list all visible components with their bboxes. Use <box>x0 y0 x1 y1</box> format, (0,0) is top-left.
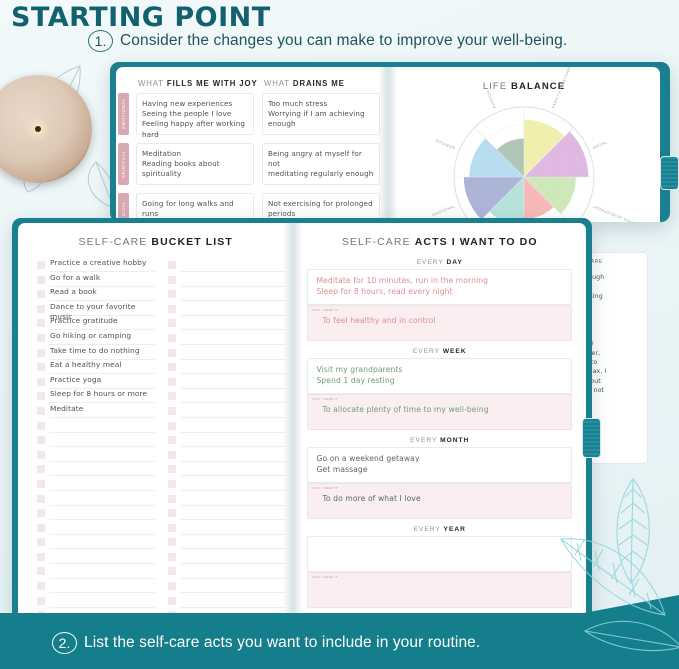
rule-line <box>49 461 155 462</box>
drains-column-header: WHAT DRAINS ME <box>264 79 345 88</box>
why-text: To allocate plenty of time to my well-be… <box>308 401 571 416</box>
rule-line <box>180 592 286 593</box>
checkbox[interactable] <box>168 276 176 284</box>
bucket-list-row[interactable] <box>37 565 155 580</box>
acts-section-month: EVERY MONTHGo on a weekend getawayGet ma… <box>307 437 572 519</box>
rule-line <box>180 329 286 330</box>
step-2: 2. List the self-care acts you want to i… <box>52 632 480 654</box>
journal-top-spread: WHAT FILLS ME WITH JOY WHAT DRAINS ME EM… <box>110 62 670 222</box>
bucket-list-text: Go hiking or camping <box>50 331 131 342</box>
checkbox[interactable] <box>37 553 45 561</box>
rule-line <box>49 607 155 608</box>
act-line: Visit my grandparents <box>316 365 563 376</box>
bucket-list-row[interactable] <box>37 507 155 522</box>
act-line: Get massage <box>316 465 563 476</box>
why-text: To do more of what I love <box>308 490 571 505</box>
checkbox[interactable] <box>168 597 176 605</box>
bucket-list-row[interactable]: Sleep for 8 hours or more <box>37 390 155 405</box>
checkbox[interactable] <box>37 495 45 503</box>
section-header: EVERY DAY <box>307 259 572 266</box>
bucket-list-text: Read a book <box>50 287 97 298</box>
bucket-list-row[interactable] <box>37 493 155 508</box>
checkbox[interactable] <box>37 436 45 444</box>
bucket-list-row[interactable] <box>168 580 286 595</box>
bucket-list-row[interactable] <box>168 303 286 318</box>
bucket-list-row[interactable] <box>168 493 286 508</box>
acts-input-box[interactable]: Visit my grandparentsSpend 1 day resting <box>307 358 572 394</box>
entry-box-joy-emotional[interactable]: Having new experiencesSeeing the people … <box>136 93 254 135</box>
checkbox[interactable] <box>168 582 176 590</box>
bucket-list-row[interactable] <box>168 507 286 522</box>
rule-line <box>180 315 286 316</box>
rule-line <box>180 300 286 301</box>
acts-input-box[interactable] <box>307 536 572 572</box>
checkbox[interactable] <box>168 392 176 400</box>
rule-line <box>49 578 155 579</box>
checkbox[interactable] <box>37 597 45 605</box>
rule-line <box>49 548 155 549</box>
bucket-list-row[interactable] <box>168 274 286 289</box>
bucket-list-column-1: Practice a creative hobby Go for a walk … <box>37 259 155 624</box>
top-left-page: WHAT FILLS ME WITH JOY WHAT DRAINS ME EM… <box>116 67 388 222</box>
checkbox[interactable] <box>37 451 45 459</box>
rule-line <box>180 563 286 564</box>
bucket-list-row[interactable] <box>168 434 286 449</box>
journal-pages-top: WHAT FILLS ME WITH JOY WHAT DRAINS ME EM… <box>116 67 660 222</box>
leaf-decoration-bottom-right <box>559 439 679 669</box>
bucket-list-row[interactable]: Meditate <box>37 405 155 420</box>
bucket-list-row[interactable] <box>37 580 155 595</box>
act-line: Spend 1 day resting <box>316 376 563 387</box>
bucket-list-row[interactable] <box>37 434 155 449</box>
rule-line <box>49 592 155 593</box>
why-i-need-it-box[interactable]: WHY I NEED IT To feel healthy and in con… <box>307 305 572 341</box>
bucket-list-row[interactable] <box>168 536 286 551</box>
step-1: 1. Consider the changes you can make to … <box>88 30 567 52</box>
handwritten-text: MeditationReading books about spirituali… <box>137 144 253 180</box>
bucket-list-row[interactable] <box>168 390 286 405</box>
bucket-list-title: SELF-CARE BUCKET LIST <box>18 236 293 248</box>
rule-line <box>180 519 286 520</box>
section-header: EVERY MONTH <box>307 437 572 444</box>
rule-line <box>180 607 286 608</box>
bucket-list-column-2 <box>168 259 286 624</box>
bucket-list-row[interactable]: Go for a walk <box>37 274 155 289</box>
entry-box-drains-spiritual[interactable]: Being angry at myself for notmeditating … <box>262 143 380 185</box>
checkbox[interactable] <box>168 538 176 546</box>
rule-line <box>49 519 155 520</box>
bucket-list-row[interactable] <box>37 536 155 551</box>
checkbox[interactable] <box>37 392 45 400</box>
bucket-list-row[interactable] <box>168 463 286 478</box>
checkbox[interactable] <box>168 407 176 415</box>
bucket-list-row[interactable] <box>37 551 155 566</box>
bucket-list-text: Meditate <box>50 404 83 415</box>
checkbox[interactable] <box>168 305 176 313</box>
checkbox[interactable] <box>37 524 45 532</box>
bucket-list-row[interactable] <box>168 405 286 420</box>
bucket-list-row[interactable] <box>168 361 286 376</box>
rule-line <box>180 271 286 272</box>
rule-line <box>180 461 286 462</box>
checkbox[interactable] <box>37 261 45 269</box>
checkbox[interactable] <box>168 422 176 430</box>
rule-line <box>49 432 155 433</box>
why-i-need-it-box[interactable]: WHY I NEED IT <box>307 572 572 608</box>
act-line: Sleep for 8 hours, read every night <box>316 287 563 298</box>
bucket-list-row[interactable]: Dance to your favorite music <box>37 303 155 318</box>
handwritten-text: Not exercising for prolonged periods <box>263 194 379 219</box>
rule-line <box>180 446 286 447</box>
step-2-text: List the self-care acts you want to incl… <box>84 634 480 652</box>
rule-line <box>49 475 155 476</box>
bucket-list-text: Sleep for 8 hours or more <box>50 389 147 400</box>
top-right-page: LIFE BALANCE FAMILY & RELATIONSHIPSSOCIA… <box>388 67 660 222</box>
checkbox[interactable] <box>168 567 176 575</box>
bucket-list-text: Practice gratitude <box>50 316 118 327</box>
rule-line <box>180 432 286 433</box>
act-line: Go on a weekend getaway <box>316 454 563 465</box>
checkbox[interactable] <box>37 334 45 342</box>
bucket-list-row[interactable] <box>168 332 286 347</box>
section-header: EVERY YEAR <box>307 526 572 533</box>
bucket-list-row[interactable] <box>168 565 286 580</box>
joy-column-header: WHAT FILLS ME WITH JOY <box>138 79 258 88</box>
acts-section-year: EVERY YEARWHY I NEED IT <box>307 526 572 608</box>
checkbox[interactable] <box>168 451 176 459</box>
bucket-list-row[interactable] <box>168 420 286 435</box>
entry-box-drains-emotional[interactable]: Too much stressWorrying if I am achievin… <box>262 93 380 135</box>
bucket-list-row[interactable]: Practice a creative hobby <box>37 259 155 274</box>
step-1-text: Consider the changes you can make to imp… <box>120 32 567 50</box>
checkbox[interactable] <box>168 524 176 532</box>
checkbox[interactable] <box>37 422 45 430</box>
rule-line <box>49 534 155 535</box>
checkbox[interactable] <box>168 480 176 488</box>
checkbox[interactable] <box>168 319 176 327</box>
checkbox[interactable] <box>168 465 176 473</box>
rule-line <box>180 578 286 579</box>
bucket-list-row[interactable]: Practice gratitude <box>37 317 155 332</box>
step-1-number: 1. <box>88 30 113 52</box>
bucket-list-row[interactable] <box>168 478 286 493</box>
checkbox[interactable] <box>168 290 176 298</box>
rule-line <box>180 359 286 360</box>
acts-input-box[interactable]: Go on a weekend getawayGet massage <box>307 447 572 483</box>
checkbox[interactable] <box>37 305 45 313</box>
step-2-number: 2. <box>52 632 77 654</box>
checkbox[interactable] <box>37 538 45 546</box>
acts-section-day: EVERY DAYMeditate for 10 minutes, run in… <box>307 259 572 341</box>
why-text: To feel healthy and in control <box>308 312 571 327</box>
bucket-list-row[interactable]: Eat a healthy meal <box>37 361 155 376</box>
rule-line <box>180 417 286 418</box>
checkbox[interactable] <box>168 509 176 517</box>
section-header: EVERY WEEK <box>307 348 572 355</box>
poster-canvas: STARTING POINT 1. Consider the changes y… <box>0 0 679 669</box>
checkbox[interactable] <box>37 480 45 488</box>
checkbox[interactable] <box>37 378 45 386</box>
bucket-list-text: Practice a creative hobby <box>50 258 146 269</box>
checkbox[interactable] <box>168 495 176 503</box>
rule-line <box>180 475 286 476</box>
bucket-list-row[interactable]: Read a book <box>37 288 155 303</box>
bucket-list-row[interactable] <box>168 259 286 274</box>
bucket-list-row[interactable] <box>168 317 286 332</box>
checkbox[interactable] <box>168 349 176 357</box>
life-balance-wheel: FAMILY & RELATIONSHIPSSOCIALPERSONAL DEV… <box>446 99 602 222</box>
journal-pages-bottom: SELF-CARE BUCKET LIST Practice a creativ… <box>18 223 586 624</box>
bucket-list-row[interactable] <box>37 463 155 478</box>
why-i-need-it-box[interactable]: WHY I NEED IT To allocate plenty of time… <box>307 394 572 430</box>
elastic-band-top[interactable] <box>660 156 679 190</box>
checkbox[interactable] <box>168 553 176 561</box>
page-title: STARTING POINT <box>11 2 271 33</box>
acts-sections: EVERY DAYMeditate for 10 minutes, run in… <box>307 259 572 608</box>
category-tab-emotional: EMOTIONAL <box>118 93 129 135</box>
act-line: Meditate for 10 minutes, run in the morn… <box>316 276 563 287</box>
checkbox[interactable] <box>168 363 176 371</box>
bucket-list-text: Go for a walk <box>50 273 100 284</box>
rule-line <box>49 446 155 447</box>
bucket-list-text: Practice yoga <box>50 375 101 386</box>
checkbox[interactable] <box>37 319 45 327</box>
bucket-list-row[interactable] <box>37 595 155 610</box>
bucket-list-row[interactable]: Go hiking or camping <box>37 332 155 347</box>
checkbox[interactable] <box>168 334 176 342</box>
rule-line <box>180 548 286 549</box>
checkbox[interactable] <box>37 567 45 575</box>
acts-section-week: EVERY WEEKVisit my grandparentsSpend 1 d… <box>307 348 572 430</box>
bucket-list-row[interactable]: Take time to do nothing <box>37 347 155 362</box>
bucket-list-row[interactable] <box>37 478 155 493</box>
checkbox[interactable] <box>37 363 45 371</box>
handwritten-text: Too much stressWorrying if I am achievin… <box>263 94 379 130</box>
bucket-list-row[interactable] <box>168 595 286 610</box>
rule-line <box>180 344 286 345</box>
bucket-list-page: SELF-CARE BUCKET LIST Practice a creativ… <box>18 223 293 624</box>
why-i-need-it-box[interactable]: WHY I NEED IT To do more of what I love <box>307 483 572 519</box>
checkbox[interactable] <box>37 290 45 298</box>
bucket-list-text: Take time to do nothing <box>50 346 140 357</box>
bucket-list-row[interactable] <box>168 347 286 362</box>
rule-line <box>180 402 286 403</box>
rule-line <box>49 505 155 506</box>
rule-line <box>180 534 286 535</box>
bucket-list-row[interactable] <box>37 522 155 537</box>
bucket-list-row[interactable] <box>168 522 286 537</box>
bucket-list-text: Eat a healthy meal <box>50 360 122 371</box>
self-care-acts-page: SELF-CARE ACTS I WANT TO DO EVERY DAYMed… <box>293 223 586 624</box>
bucket-list-row[interactable]: Practice yoga <box>37 376 155 391</box>
checkbox[interactable] <box>168 436 176 444</box>
checkbox[interactable] <box>37 349 45 357</box>
rule-line <box>180 505 286 506</box>
bucket-list-row[interactable] <box>168 288 286 303</box>
rule-line <box>180 490 286 491</box>
handwritten-text: Being angry at myself for notmeditating … <box>263 144 379 180</box>
bucket-list-row[interactable] <box>37 420 155 435</box>
acts-title: SELF-CARE ACTS I WANT TO DO <box>293 236 586 248</box>
rule-line <box>180 373 286 374</box>
bucket-list-row[interactable] <box>37 449 155 464</box>
checkbox[interactable] <box>37 582 45 590</box>
checkbox[interactable] <box>37 276 45 284</box>
why-text <box>308 579 571 583</box>
journal-bottom-spread: SELF-CARE BUCKET LIST Practice a creativ… <box>12 218 592 630</box>
rule-line <box>49 417 155 418</box>
bucket-list-row[interactable] <box>168 376 286 391</box>
entry-box-joy-spiritual[interactable]: MeditationReading books about spirituali… <box>136 143 254 185</box>
checkbox[interactable] <box>168 378 176 386</box>
checkbox[interactable] <box>37 509 45 517</box>
bucket-list-row[interactable] <box>168 449 286 464</box>
wheel-svg <box>446 99 602 222</box>
handwritten-text: Having new experiencesSeeing the people … <box>137 94 253 140</box>
checkbox[interactable] <box>168 261 176 269</box>
rule-line <box>180 388 286 389</box>
checkbox[interactable] <box>37 407 45 415</box>
acts-input-box[interactable]: Meditate for 10 minutes, run in the morn… <box>307 269 572 305</box>
bucket-list-row[interactable] <box>168 551 286 566</box>
category-tab-spiritual: SPIRITUAL <box>118 143 129 185</box>
rule-line <box>49 490 155 491</box>
rule-line <box>180 286 286 287</box>
life-balance-title: LIFE BALANCE <box>388 81 660 92</box>
rule-line <box>49 563 155 564</box>
checkbox[interactable] <box>37 465 45 473</box>
